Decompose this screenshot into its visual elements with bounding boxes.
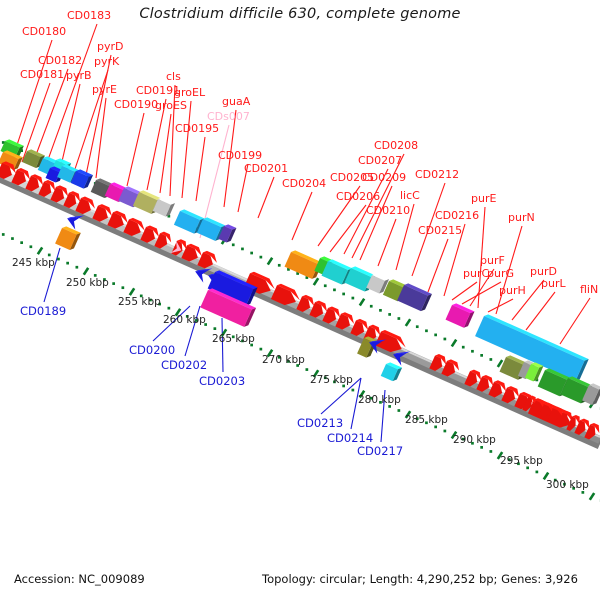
cds-feature-leader-line [147,99,166,190]
ruler-tick-label: 255 kbp [118,297,161,308]
reverse-gene-label[interactable]: CD0200 [129,345,175,356]
cds-feature-label[interactable]: CD0190 [114,99,158,110]
ruler-tick-label: 285 kbp [405,415,448,426]
ruler-tick-label: 260 kbp [163,315,206,326]
genome-map-viewer: Clostridium difficile 630, complete geno… [0,0,600,600]
cds-feature-label[interactable]: CD0208 [374,140,418,151]
cds-feature-label[interactable]: pyrK [94,56,119,67]
cds-feature-label[interactable]: purH [499,285,526,296]
cds-feature-leader-line [182,101,191,198]
accession-text: Accession: NC_009089 [14,572,145,586]
cds-feature-label[interactable]: CD0182 [38,55,82,66]
cds-arrow-row[interactable] [0,160,600,442]
genome-graphics [0,0,600,600]
cds-feature-leader-line [196,137,205,201]
cds-feature-leader-line [45,24,97,168]
ruler-tick-label: 250 kbp [66,278,109,289]
cds-feature-label[interactable]: CD0195 [175,123,219,134]
ruler-tick-label: 275 kbp [310,375,353,386]
cds-feature-leader-line [96,98,106,178]
cds-feature-label[interactable]: CD0209 [362,172,406,183]
ruler-tick-label: 245 kbp [12,258,55,269]
cds-feature-label[interactable]: purN [508,212,535,223]
gene-feature-box[interactable] [445,302,474,329]
cds-feature-label[interactable]: CD0199 [218,150,262,161]
ruler-tick-label: 295 kbp [500,456,543,467]
footer-bar: Accession: NC_009089 Topology: circular;… [0,572,600,592]
reverse-gene-label[interactable]: CD0213 [297,418,343,429]
cds-feature-label[interactable]: groEL [174,87,205,98]
cds-feature-leader-line [60,84,80,170]
ruler-tick-label: 280 kbp [358,395,401,406]
topology-text: Topology: circular; Length: 4,290,252 bp… [262,572,578,586]
cds-feature-label[interactable]: CD0212 [415,169,459,180]
cds-feature-leader-line [22,83,50,162]
reverse-gene-leader-line [222,318,223,372]
ruler-tick-label: 290 kbp [453,435,496,446]
cds-feature-label[interactable]: CD0216 [435,210,479,221]
cds-feature-label[interactable]: CD0201 [244,163,288,174]
cds-feature-leader-line [488,299,513,312]
cds-feature-label[interactable]: groES [155,100,187,111]
cds-feature-label[interactable]: licC [400,190,420,201]
cds-feature-label[interactable]: pyrD [97,41,124,52]
ruler-tick-label: 300 kbp [546,480,589,491]
cds-feature-label[interactable]: CD0207 [358,155,402,166]
reverse-gene-label[interactable]: CD0217 [357,446,403,457]
cds-feature-label[interactable]: purF [480,255,505,266]
cds-feature-label[interactable]: fliN [580,284,598,295]
cds-feature-label[interactable]: pyrB [66,70,92,81]
gene-feature-box[interactable] [381,361,402,382]
reverse-gene-label[interactable]: CD0189 [20,306,66,317]
cds-feature-leader-line [127,113,144,186]
cds-feature-leader-line [378,219,396,266]
cds-feature-label[interactable]: CD0206 [336,191,380,202]
cds-feature-label[interactable]: purC [463,268,489,279]
cds-feature-label[interactable]: cls [166,71,181,82]
cds-feature-label[interactable]: pyrE [92,84,117,95]
reverse-gene-label[interactable]: CD0203 [199,376,245,387]
cds-feature-label[interactable]: CD0215 [418,225,462,236]
cds-feature-leader-line [160,114,171,193]
ruler-tick-label: 270 kbp [262,355,305,366]
cds-feature-leader-line [428,239,448,292]
cds-feature-leader-line [258,177,274,218]
cds-feature-label[interactable]: CD0180 [22,26,66,37]
cds-feature-label[interactable]: CD0181 [20,69,64,80]
ruler-tick-label: 265 kbp [212,334,255,345]
cds-feature-leader-line [462,282,501,304]
cds-feature-label[interactable]: purG [487,268,514,279]
gene-feature-box[interactable] [284,249,322,280]
cds-feature-leader-line [330,205,366,252]
cds-feature-label[interactable]: CD0210 [366,205,410,216]
reverse-gene-label[interactable]: CD0202 [161,360,207,371]
cds-feature-label[interactable]: purL [541,278,566,289]
gene-feature-box[interactable] [55,225,81,251]
srna-feature-label[interactable]: CDs007 [207,111,250,122]
cds-feature-label[interactable]: purE [471,193,496,204]
cds-feature-leader-line [560,298,590,344]
cds-feature-leader-line [292,192,312,240]
cds-feature-label[interactable]: CD0183 [67,10,111,21]
cds-feature-label[interactable]: purD [530,266,557,277]
reverse-gene-label[interactable]: CD0214 [327,433,373,444]
cds-feature-label[interactable]: guaA [222,96,250,107]
cds-feature-label[interactable]: CD0204 [282,178,326,189]
